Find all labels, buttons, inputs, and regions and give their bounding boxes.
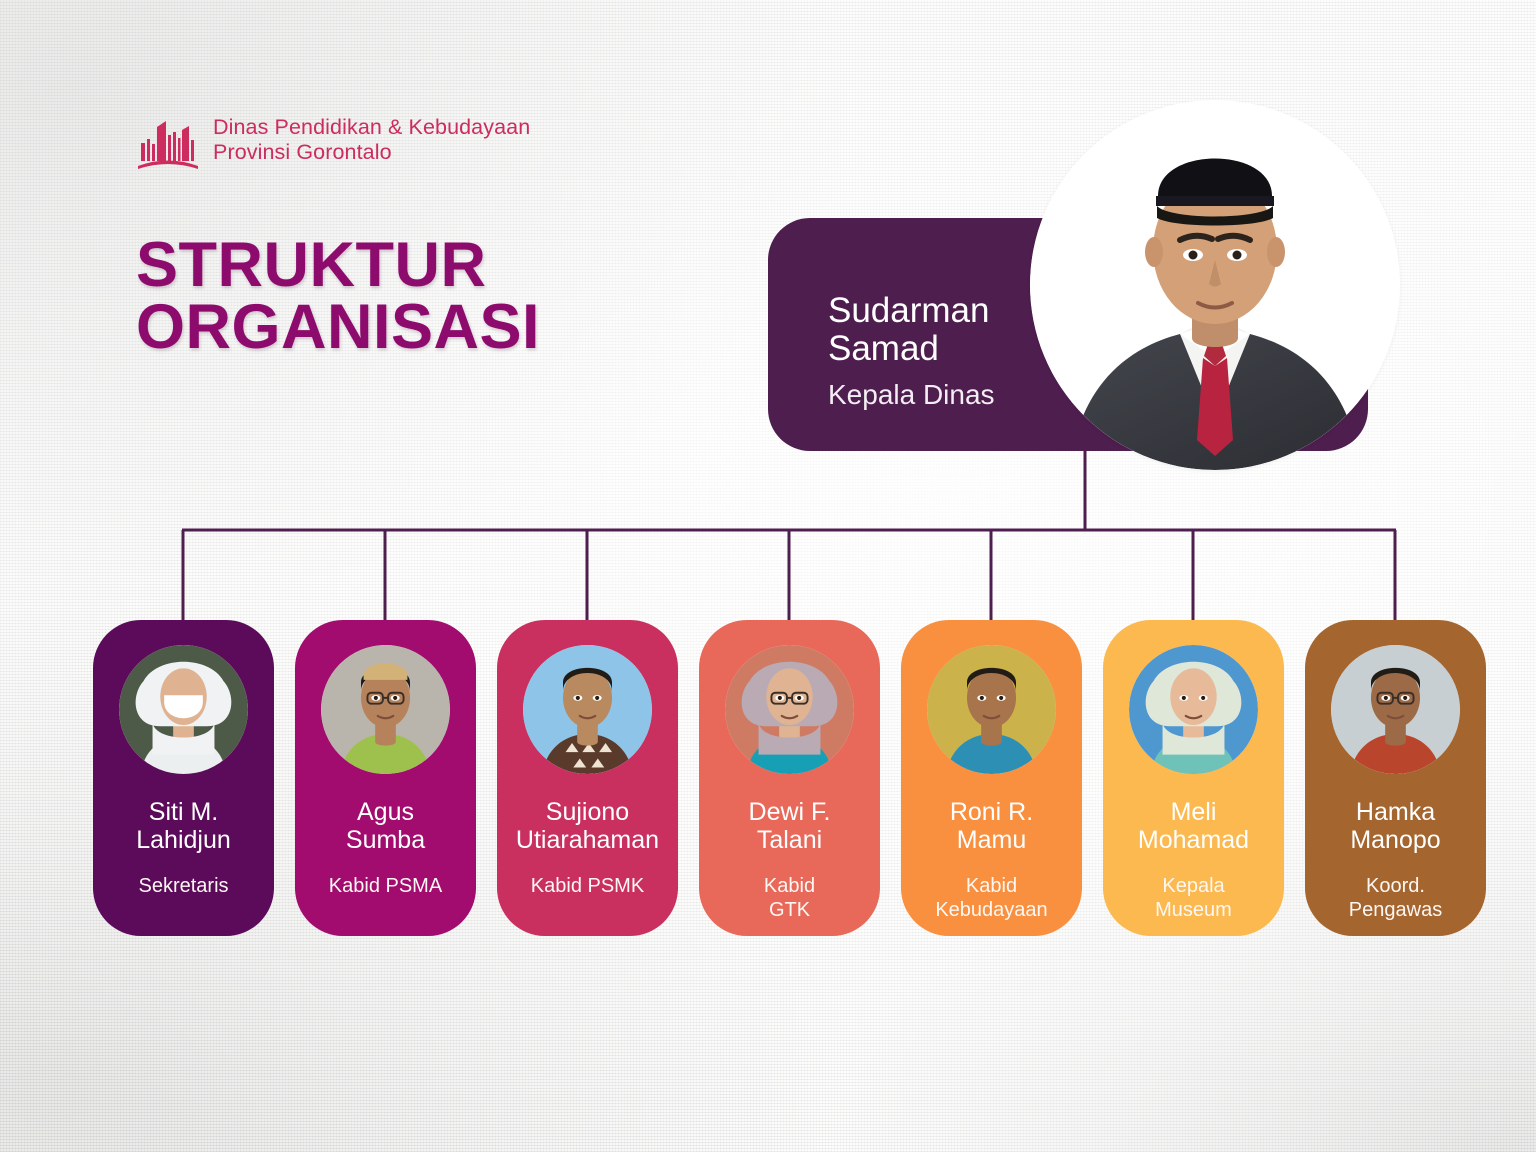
staff-card[interactable]: Sujiono UtiarahamanKabid PSMK <box>497 620 678 936</box>
staff-card[interactable]: Meli MohamadKepala Museum <box>1103 620 1284 936</box>
staff-name: Dewi F. Talani <box>682 798 897 854</box>
org-chart-slide: Dinas Pendidikan & Kebudayaan Provinsi G… <box>0 0 1536 1152</box>
head-role: Kepala Dinas <box>828 378 1078 412</box>
staff-avatar <box>523 645 652 774</box>
staff-card[interactable]: Roni R. MamuKabid Kebudayaan <box>901 620 1082 936</box>
staff-card[interactable]: Dewi F. TalaniKabid GTK <box>699 620 880 936</box>
staff-avatar <box>1129 645 1258 774</box>
staff-avatar <box>1331 645 1460 774</box>
staff-role: Kepala Museum <box>1094 874 1294 922</box>
staff-avatar <box>725 645 854 774</box>
staff-role: Kabid PSMK <box>488 874 688 898</box>
staff-name: Meli Mohamad <box>1086 798 1301 854</box>
staff-name: Roni R. Mamu <box>884 798 1099 854</box>
staff-card[interactable]: Siti M. LahidjunSekretaris <box>93 620 274 936</box>
staff-card[interactable]: Agus SumbaKabid PSMA <box>295 620 476 936</box>
staff-role: Koord. Pengawas <box>1296 874 1496 922</box>
staff-avatar <box>321 645 450 774</box>
staff-name: Hamka Manopo <box>1288 798 1503 854</box>
staff-role: Kabid PSMA <box>286 874 486 898</box>
staff-row: Siti M. LahidjunSekretaris Agus SumbaKab… <box>93 620 1443 936</box>
staff-role: Kabid GTK <box>690 874 890 922</box>
staff-avatar <box>927 645 1056 774</box>
head-avatar <box>1030 100 1400 470</box>
staff-role: Sekretaris <box>84 874 284 898</box>
staff-avatar <box>119 645 248 774</box>
staff-name: Sujiono Utiarahaman <box>480 798 695 854</box>
staff-role: Kabid Kebudayaan <box>892 874 1092 922</box>
staff-name: Agus Sumba <box>278 798 493 854</box>
staff-card[interactable]: Hamka ManopoKoord. Pengawas <box>1305 620 1486 936</box>
staff-name: Siti M. Lahidjun <box>76 798 291 854</box>
